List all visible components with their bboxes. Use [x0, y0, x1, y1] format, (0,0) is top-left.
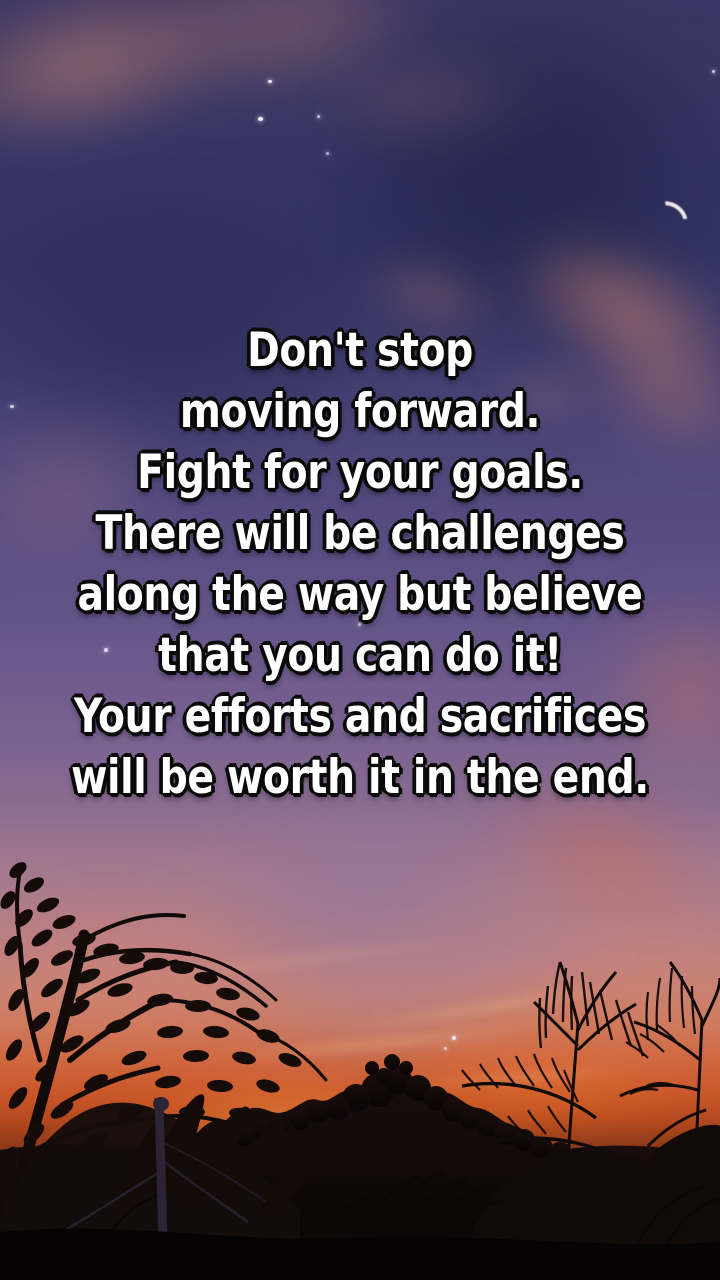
quote-line-7: Your efforts and sacrifices — [25, 686, 695, 747]
quote-line-3: Fight for your goals. — [25, 442, 695, 503]
star — [452, 1036, 456, 1040]
quote-block: Don't stop moving forward. Fight for you… — [0, 320, 720, 808]
star — [444, 1047, 447, 1050]
star — [258, 117, 263, 121]
star — [268, 80, 272, 83]
horizon-sun-glow-secondary — [330, 1035, 720, 1145]
star — [317, 115, 320, 118]
quote-line-5: along the way but believe — [25, 564, 695, 625]
quote-line-1: Don't stop — [25, 320, 695, 381]
quote-line-8: will be worth it in the end. — [25, 747, 695, 808]
quote-line-4: There will be challenges — [25, 503, 695, 564]
wallpaper-canvas: Don't stop moving forward. Fight for you… — [0, 0, 720, 1280]
quote-line-2: moving forward. — [25, 381, 695, 442]
star — [712, 70, 715, 73]
quote-line-6: that you can do it! — [25, 625, 695, 686]
star — [326, 152, 329, 155]
